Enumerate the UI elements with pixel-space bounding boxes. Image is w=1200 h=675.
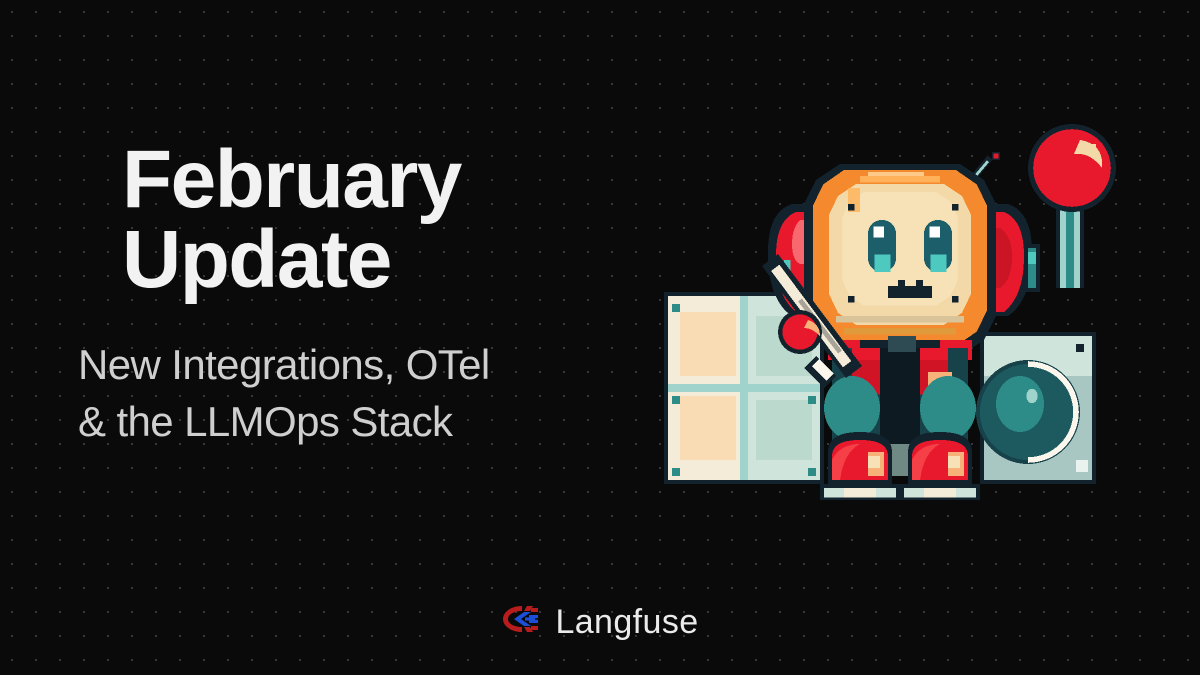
machine-box-illustration (976, 332, 1096, 484)
brand-footer: Langfuse (0, 604, 1200, 639)
page-subtitle: New Integrations, OTel & the LLMOps Stac… (78, 337, 616, 450)
pixel-art-robot-mascot-icon (640, 108, 1160, 512)
brand-name: Langfuse (555, 605, 698, 639)
hero-banner: February Update New Integrations, OTel &… (0, 0, 1200, 675)
page-title: February Update (122, 140, 616, 299)
langfuse-logo-icon (501, 604, 541, 639)
ball-on-stick-illustration (1028, 124, 1116, 288)
hero-text-block: February Update New Integrations, OTel &… (76, 140, 616, 450)
